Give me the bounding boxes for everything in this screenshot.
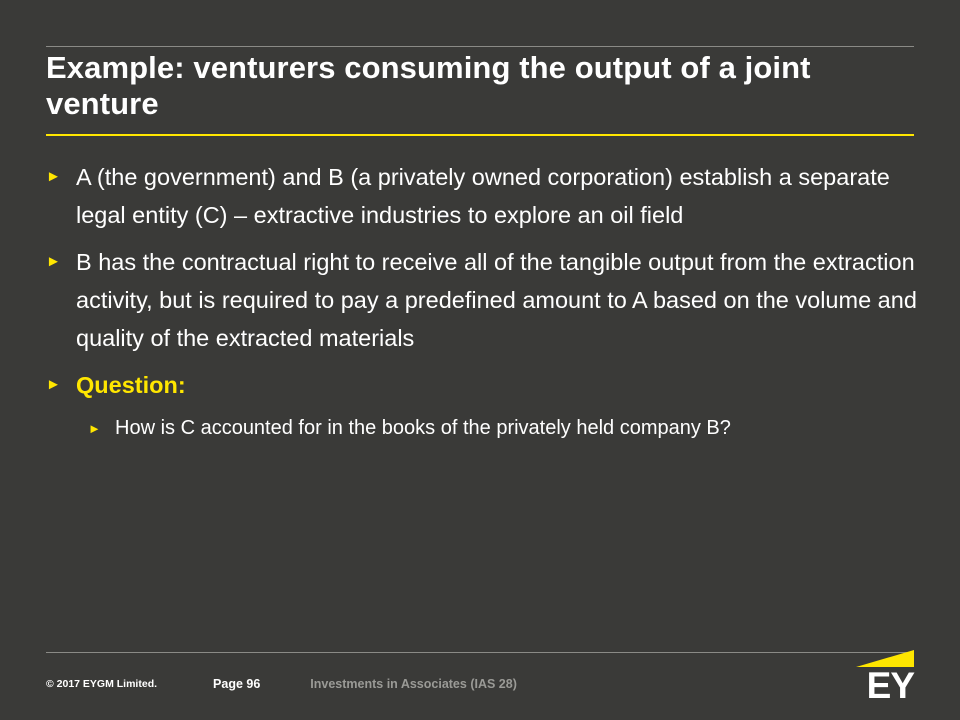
ey-logo: EY bbox=[838, 650, 914, 704]
title-bottom-divider bbox=[46, 134, 914, 136]
list-item: ► A (the government) and B (a privately … bbox=[46, 158, 926, 234]
slide-body: ► A (the government) and B (a privately … bbox=[46, 158, 926, 444]
list-item-text: A (the government) and B (a privately ow… bbox=[76, 158, 926, 234]
sub-list-item: ► How is C accounted for in the books of… bbox=[88, 413, 926, 444]
copyright-text: © 2017 EYGM Limited. bbox=[46, 678, 157, 690]
list-item: ► B has the contractual right to receive… bbox=[46, 243, 926, 357]
ey-logo-letters: EY bbox=[867, 667, 914, 704]
bullet-arrow-icon: ► bbox=[46, 243, 76, 269]
bullet-arrow-icon: ► bbox=[46, 158, 76, 184]
slide: Example: venturers consuming the output … bbox=[0, 0, 960, 720]
question-label: Question: bbox=[76, 366, 926, 404]
footer-topic: Investments in Associates (IAS 28) bbox=[310, 677, 517, 691]
list-item-text: B has the contractual right to receive a… bbox=[76, 243, 926, 357]
footer-divider bbox=[46, 652, 914, 653]
sub-list-item-text: How is C accounted for in the books of t… bbox=[115, 413, 926, 444]
bullet-arrow-icon: ► bbox=[46, 366, 76, 392]
footer: © 2017 EYGM Limited. Page 96 Investments… bbox=[46, 672, 914, 696]
bullet-arrow-icon: ► bbox=[88, 413, 115, 435]
page-number: Page 96 bbox=[213, 677, 260, 691]
page-title: Example: venturers consuming the output … bbox=[46, 50, 926, 123]
list-item-question: ► Question: bbox=[46, 366, 926, 404]
title-top-divider bbox=[46, 46, 914, 47]
